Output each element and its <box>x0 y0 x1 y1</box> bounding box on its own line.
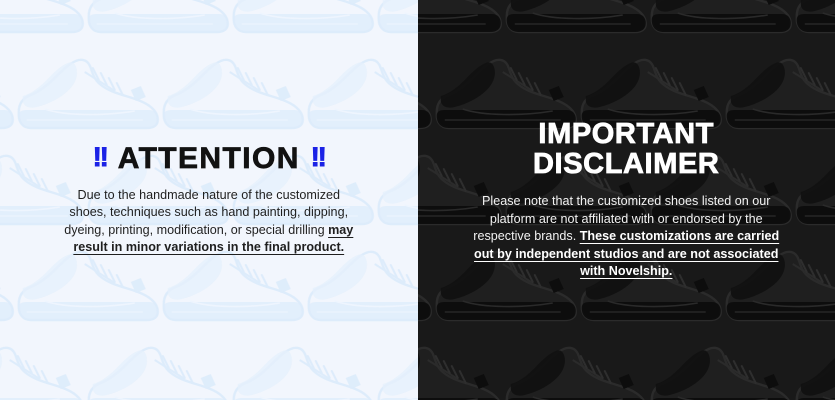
disclaimer-banner: !! ATTENTION !! Due to the handmade natu… <box>0 0 835 400</box>
attention-heading-text: ATTENTION <box>118 144 300 174</box>
disclaimer-heading: IMPORTANT DISCLAIMER <box>533 119 719 179</box>
exclamation-left-icon: !! <box>93 144 107 171</box>
attention-body-normal: Due to the handmade nature of the custom… <box>64 188 348 237</box>
disclaimer-panel: IMPORTANT DISCLAIMER Please note that th… <box>418 0 835 400</box>
attention-body: Due to the handmade nature of the custom… <box>59 187 359 257</box>
disclaimer-content: IMPORTANT DISCLAIMER Please note that th… <box>418 0 835 400</box>
attention-heading: !! ATTENTION !! <box>93 144 325 174</box>
disclaimer-heading-line2: DISCLAIMER <box>533 149 719 179</box>
attention-content: !! ATTENTION !! Due to the handmade natu… <box>0 0 418 400</box>
attention-panel: !! ATTENTION !! Due to the handmade natu… <box>0 0 418 400</box>
disclaimer-body: Please note that the customized shoes li… <box>468 193 784 281</box>
exclamation-right-icon: !! <box>311 144 325 171</box>
disclaimer-heading-line1: IMPORTANT <box>538 119 714 149</box>
